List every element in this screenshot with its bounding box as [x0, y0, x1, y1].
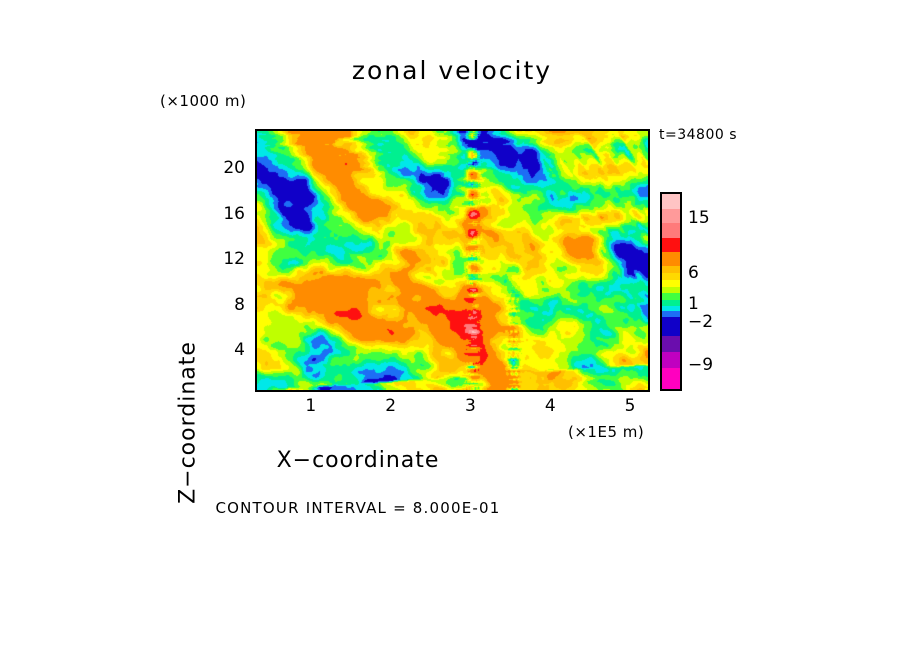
x-axis-label: X−coordinate	[0, 448, 810, 473]
colorbar-tick-label: −2	[688, 312, 713, 332]
colorbar-band	[662, 273, 680, 280]
x-tick-label: 4	[545, 396, 556, 416]
colorbar-band	[662, 352, 680, 368]
colorbar-tick-label: 6	[688, 263, 699, 283]
colorbar-band	[662, 223, 680, 237]
colorbar-labels: 1561−2−9	[688, 192, 748, 391]
x-tick-label: 5	[625, 396, 636, 416]
colorbar-band	[662, 336, 680, 352]
contour-interval-note: CONTOUR INTERVAL = 8.000E-01	[0, 499, 810, 517]
colorbar-band	[662, 252, 680, 266]
colorbar-tick-label: 15	[688, 208, 710, 228]
colorbar-band	[662, 287, 680, 294]
colorbar-band	[662, 194, 680, 209]
x-tick-label: 1	[305, 396, 316, 416]
y-tick-label: 16	[205, 204, 245, 224]
contour-field-canvas	[257, 131, 648, 390]
x-tick-label: 3	[465, 396, 476, 416]
colorbar	[660, 192, 682, 391]
y-tick-label: 20	[205, 158, 245, 178]
x-axis-ticks: 12345	[255, 396, 650, 422]
colorbar-band	[662, 293, 680, 300]
y-tick-label: 12	[205, 249, 245, 269]
chart-title: zonal velocity	[0, 56, 904, 85]
time-annotation: t=34800 s	[659, 127, 737, 143]
colorbar-tick-label: 1	[688, 294, 699, 314]
colorbar-tick-label: −9	[688, 355, 713, 375]
contour-interval-note-wrap: CONTOUR INTERVAL = 8.000E-01	[0, 499, 904, 517]
y-axis-units-label: (×1000 m)	[160, 92, 246, 110]
colorbar-band	[662, 317, 680, 336]
x-axis-label-wrap: X−coordinate	[0, 448, 904, 473]
x-axis-units-label: (×1E5 m)	[568, 423, 644, 441]
x-tick-label: 2	[385, 396, 396, 416]
y-tick-label: 4	[205, 340, 245, 360]
colorbar-band	[662, 266, 680, 274]
colorbar-band	[662, 238, 680, 252]
y-tick-label: 8	[205, 295, 245, 315]
y-axis-label-wrap: Z−coordinate	[140, 150, 180, 370]
colorbar-band	[662, 280, 680, 287]
colorbar-band	[662, 209, 680, 223]
y-axis-ticks: 48121620	[205, 129, 249, 392]
colorbar-band	[662, 368, 680, 389]
contour-plot-area	[255, 129, 650, 392]
